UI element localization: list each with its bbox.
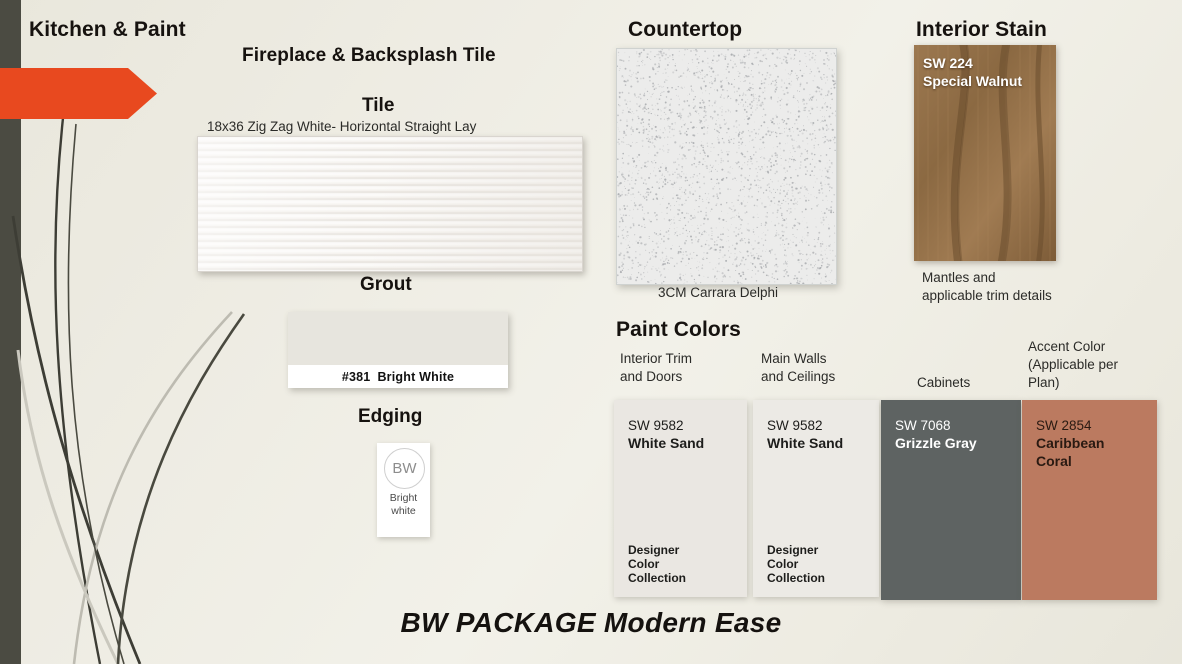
paint-sub-0-line1: Designer [628, 543, 686, 557]
interior-stain-caption-line1: Mantles and [922, 269, 1052, 287]
grout-label: Grout [360, 274, 412, 296]
paint-sub-1-line2: Color [767, 557, 825, 571]
paint-use-caption-3: Accent Color (Applicable per Plan) [1028, 338, 1118, 392]
paint-use-caption-0: Interior Trim and Doors [620, 350, 692, 386]
paint-code-3: SW 2854 [1036, 416, 1092, 435]
edging-badge: BW [384, 448, 425, 489]
paint-use-1-line2: and Ceilings [761, 368, 835, 386]
paint-swatch-interior-trim[interactable]: SW 9582 White Sand Designer Color Collec… [614, 400, 747, 597]
countertop-swatch[interactable] [616, 48, 837, 285]
paint-use-caption-2: Cabinets [917, 374, 970, 392]
interior-stain-code: SW 224 [923, 54, 1022, 72]
grout-swatch-label: #381 Bright White [288, 365, 508, 388]
paint-use-2-line1: Cabinets [917, 374, 970, 392]
grout-code: #381 [342, 370, 371, 384]
paint-sub-0-line3: Collection [628, 571, 686, 585]
paint-swatch-cabinets[interactable]: SW 7068 Grizzle Gray [881, 400, 1021, 600]
paint-swatch-main-walls[interactable]: SW 9582 White Sand Designer Color Collec… [753, 400, 879, 597]
section-title-fireplace: Fireplace & Backsplash Tile [242, 45, 496, 67]
countertop-texture [617, 49, 836, 284]
paint-sub-0-line2: Color [628, 557, 686, 571]
design-board: Kitchen & Paint Fireplace & Backsplash T… [0, 0, 1182, 664]
interior-stain-label: Interior Stain [916, 18, 1047, 42]
grout-swatch[interactable]: #381 Bright White [288, 312, 508, 388]
paint-sub-1: Designer Color Collection [767, 543, 825, 585]
interior-stain-text: SW 224 Special Walnut [923, 54, 1022, 90]
paint-name-0: White Sand [628, 434, 704, 452]
paint-use-1-line1: Main Walls [761, 350, 835, 368]
paint-name-1: White Sand [767, 434, 843, 452]
edging-name-line1: Bright [377, 492, 430, 505]
paint-use-3-line2: (Applicable per [1028, 356, 1118, 374]
paint-name-3-line1: Caribbean [1036, 434, 1104, 452]
paint-name-3: Caribbean Coral [1036, 434, 1104, 470]
paint-swatch-accent[interactable]: SW 2854 Caribbean Coral [1022, 400, 1157, 600]
tile-caption: 18x36 Zig Zag White- Horizontal Straight… [207, 119, 476, 134]
edging-name-line2: white [377, 505, 430, 518]
paint-code-1: SW 9582 [767, 416, 823, 435]
paint-use-0-line1: Interior Trim [620, 350, 692, 368]
paint-use-3-line3: Plan) [1028, 374, 1118, 392]
paint-sub-0: Designer Color Collection [628, 543, 686, 585]
paint-sub-1-line1: Designer [767, 543, 825, 557]
edging-swatch[interactable]: BW Bright white [377, 443, 430, 537]
paint-code-2: SW 7068 [895, 416, 951, 435]
interior-stain-caption: Mantles and applicable trim details [922, 269, 1052, 305]
tile-label: Tile [362, 95, 394, 117]
interior-stain-caption-line2: applicable trim details [922, 287, 1052, 305]
edging-label: Edging [358, 406, 422, 428]
paint-code-0: SW 9582 [628, 416, 684, 435]
countertop-label: Countertop [628, 18, 742, 42]
paint-name-2: Grizzle Gray [895, 434, 977, 452]
paint-use-3-line1: Accent Color [1028, 338, 1118, 356]
interior-stain-name: Special Walnut [923, 72, 1022, 90]
interior-stain-swatch[interactable]: SW 224 Special Walnut [914, 45, 1056, 261]
paint-sub-1-line3: Collection [767, 571, 825, 585]
paint-use-caption-1: Main Walls and Ceilings [761, 350, 835, 386]
edging-name: Bright white [377, 492, 430, 518]
orange-arrow-graphic [0, 68, 157, 119]
footer-title: BW PACKAGE Modern Ease [0, 607, 1182, 639]
tile-swatch[interactable] [197, 136, 583, 272]
paint-name-3-line2: Coral [1036, 452, 1104, 470]
countertop-caption: 3CM Carrara Delphi [658, 285, 778, 300]
paint-use-0-line2: and Doors [620, 368, 692, 386]
grout-name: Bright White [377, 370, 454, 384]
page-title: Kitchen & Paint [29, 18, 186, 42]
paint-colors-label: Paint Colors [616, 318, 741, 342]
